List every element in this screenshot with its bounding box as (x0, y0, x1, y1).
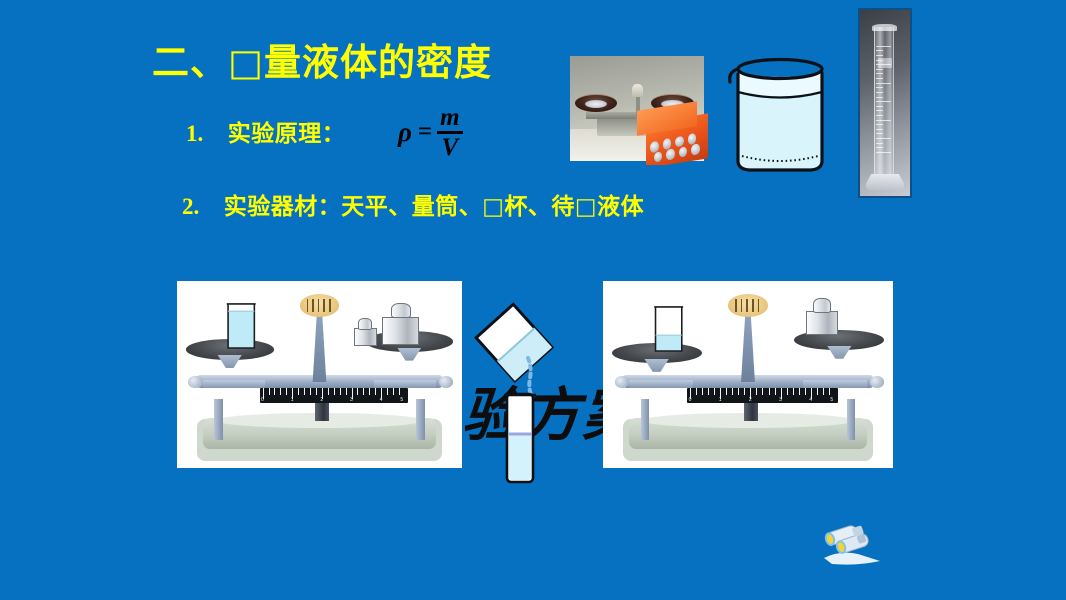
balance-adjust-knob-right (439, 376, 453, 387)
balance-arm-left (203, 380, 266, 387)
balance-with-partial-beaker-illustration: 0 1 2 3 4 5 (603, 281, 893, 468)
balance-hanger (300, 294, 340, 316)
scale-tick-4: 4 (380, 397, 383, 403)
scale-tick-5: 5 (400, 397, 403, 403)
beaker-icon (722, 48, 838, 173)
weight-large-cap (813, 298, 830, 313)
formula-fraction: m V (437, 104, 462, 161)
balance-plinth (203, 418, 437, 450)
balance-adjust-knob-right (870, 376, 885, 387)
weight-small-cap (358, 318, 372, 329)
cylinder-base (866, 174, 904, 191)
pouring-beaker-into-cylinder (466, 296, 566, 486)
pan-stem-right (847, 399, 856, 440)
list-item-1-label: 实验原理： (228, 121, 346, 147)
balance-pan-left (575, 94, 618, 112)
weight-large (806, 311, 838, 335)
balance-arm-right (374, 380, 437, 387)
formula-numerator: m (437, 104, 462, 131)
pan-stem-left (641, 399, 650, 440)
scale-tick-4: 4 (809, 397, 812, 403)
list-item-1-number: 1. (186, 121, 203, 146)
page-title: 二、□量液体的密度 (152, 44, 492, 81)
balance-rider-scale: 0 1 2 3 4 5 (260, 388, 408, 403)
physical-balance-photo (566, 52, 708, 165)
scale-tick-2: 2 (749, 397, 752, 403)
scale-tick-5: 5 (830, 397, 833, 403)
weight-small (354, 328, 377, 347)
slide-canvas: 二、□量液体的密度 1. 实验原理： ρ = m V 2. 实验器材：天平、量筒… (0, 0, 1066, 600)
scale-tick-3: 3 (779, 397, 782, 403)
balance-illustration: 0 1 2 3 4 5 (603, 281, 893, 468)
list-item-2-number: 2. (182, 194, 199, 219)
list-item-2: 2. 实验器材：天平、量筒、□杯、待□液体 (182, 195, 644, 219)
formula-denominator: V (439, 134, 462, 161)
balance-plinth (629, 418, 867, 450)
balance-hanger (728, 294, 769, 316)
balance-pointer (632, 84, 643, 98)
beaker-drawing (722, 48, 838, 173)
beaker-icon (644, 305, 693, 354)
graduated-cylinder-photo (858, 8, 912, 198)
beaker-icon (217, 302, 265, 351)
balance-with-full-beaker-illustration: 0 1 2 3 4 5 (177, 281, 462, 468)
balance-adjust-knob-left (188, 376, 202, 387)
balance-pointer (308, 315, 331, 382)
binoculars-icon[interactable] (818, 520, 886, 566)
weight-large (382, 317, 419, 345)
scale-tick-3: 3 (350, 397, 353, 403)
scale-tick-1: 1 (719, 397, 722, 403)
balance-illustration: 0 1 2 3 4 5 (177, 281, 462, 468)
balance-adjust-knob-left (615, 376, 630, 387)
scale-tick-1: 1 (291, 397, 294, 403)
weight-large-cap (391, 303, 411, 318)
scale-tick-2: 2 (320, 397, 323, 403)
list-item-2-label: 实验器材：天平、量筒、□杯、待□液体 (224, 194, 644, 220)
list-item-1: 1. 实验原理： (186, 122, 345, 146)
pour-illustration (466, 296, 566, 486)
balance-rider-scale: 0 1 2 3 4 5 (687, 388, 838, 403)
balance-arm-right (803, 380, 867, 387)
formula-rho: ρ (398, 119, 412, 146)
cylinder-graduations (876, 43, 891, 158)
density-formula: ρ = m V (398, 104, 463, 161)
binoculars-glyph[interactable] (818, 520, 886, 566)
balance-pointer (736, 315, 759, 382)
beaker-on-pan (217, 302, 265, 351)
scale-tick-0: 0 (261, 397, 264, 403)
pan-stem-left (214, 399, 223, 440)
beaker-on-pan (644, 305, 693, 354)
pan-stem-right (416, 399, 425, 440)
scale-tick-0: 0 (689, 397, 692, 403)
formula-equals: = (418, 118, 432, 146)
balance-arm-left (629, 380, 693, 387)
